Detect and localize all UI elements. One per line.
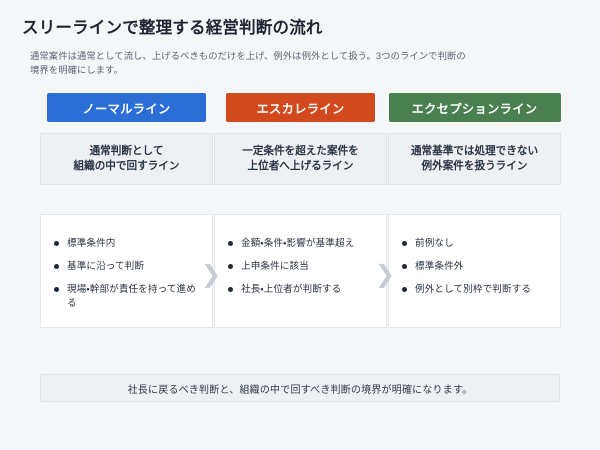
page-subtitle: 通常案件は通常として流し、上げるべきものだけを上げ、例外は例外として扱う。3つの… xyxy=(30,49,470,78)
pill-escalate-line[interactable]: エスカレライン xyxy=(226,93,375,122)
list-item: 例外として別枠で判断する xyxy=(401,283,552,297)
column-normal-header: ノーマルライン 通常判断として 組織の中で回すライン xyxy=(40,93,213,185)
bullet-list-escalate: 金額・条件・影響が基準超え 上申条件に該当 社長・上位者が判断する xyxy=(215,237,386,297)
pill-normal-line[interactable]: ノーマルライン xyxy=(47,93,206,122)
title-accent-bar xyxy=(0,14,4,34)
list-item: 基準に沿って判断 xyxy=(53,260,204,274)
slide-canvas: スリーラインで整理する経営判断の流れ 通常案件は通常として流し、上げるべきものだ… xyxy=(0,0,600,450)
chevron-right-icon: ❯ xyxy=(375,262,393,288)
bullet-list-normal: 標準条件内 基準に沿って判断 現場・幹部が責任を持って進める xyxy=(41,237,212,311)
footer-summary: 社長に戻るべき判断と、組織の中で回すべき判断の境界が明確になります。 xyxy=(40,374,560,402)
card-escalate-details: 金額・条件・影響が基準超え 上申条件に該当 社長・上位者が判断する xyxy=(214,214,387,328)
list-item: 上申条件に該当 xyxy=(227,260,378,274)
desc-escalate-line: 一定条件を超えた案件を 上位者へ上げるライン xyxy=(214,133,387,185)
desc-escalate-line-2: 上位者へ上げるライン xyxy=(248,159,354,174)
desc-exception-line: 通常基準では処理できない 例外案件を扱うライン xyxy=(388,133,561,185)
column-exception-header: エクセプションライン 通常基準では処理できない 例外案件を扱うライン xyxy=(388,93,561,185)
list-item: 前例なし xyxy=(401,237,552,251)
desc-normal-line-2: 組織の中で回すライン xyxy=(74,159,180,174)
chevron-right-icon: ❯ xyxy=(201,262,219,288)
bullet-list-exception: 前例なし 標準条件外 例外として別枠で判断する xyxy=(389,237,560,297)
card-normal-details: 標準条件内 基準に沿って判断 現場・幹部が責任を持って進める xyxy=(40,214,213,328)
desc-escalate-line-1: 一定条件を超えた案件を xyxy=(242,144,359,159)
card-exception-details: 前例なし 標準条件外 例外として別枠で判断する xyxy=(388,214,561,328)
desc-exception-line-1: 通常基準では処理できない xyxy=(411,144,538,159)
list-item: 金額・条件・影響が基準超え xyxy=(227,237,378,251)
list-item: 標準条件内 xyxy=(53,237,204,251)
pill-exception-line[interactable]: エクセプションライン xyxy=(389,93,561,122)
list-item: 社長・上位者が判断する xyxy=(227,283,378,297)
desc-normal-line-1: 通常判断として xyxy=(90,144,164,159)
desc-exception-line-2: 例外案件を扱うライン xyxy=(422,159,528,174)
desc-normal-line: 通常判断として 組織の中で回すライン xyxy=(40,133,213,185)
list-item: 現場・幹部が責任を持って進める xyxy=(53,283,204,311)
list-item: 標準条件外 xyxy=(401,260,552,274)
page-title: スリーラインで整理する経営判断の流れ xyxy=(22,14,323,38)
column-escalate-header: エスカレライン 一定条件を超えた案件を 上位者へ上げるライン xyxy=(214,93,387,185)
